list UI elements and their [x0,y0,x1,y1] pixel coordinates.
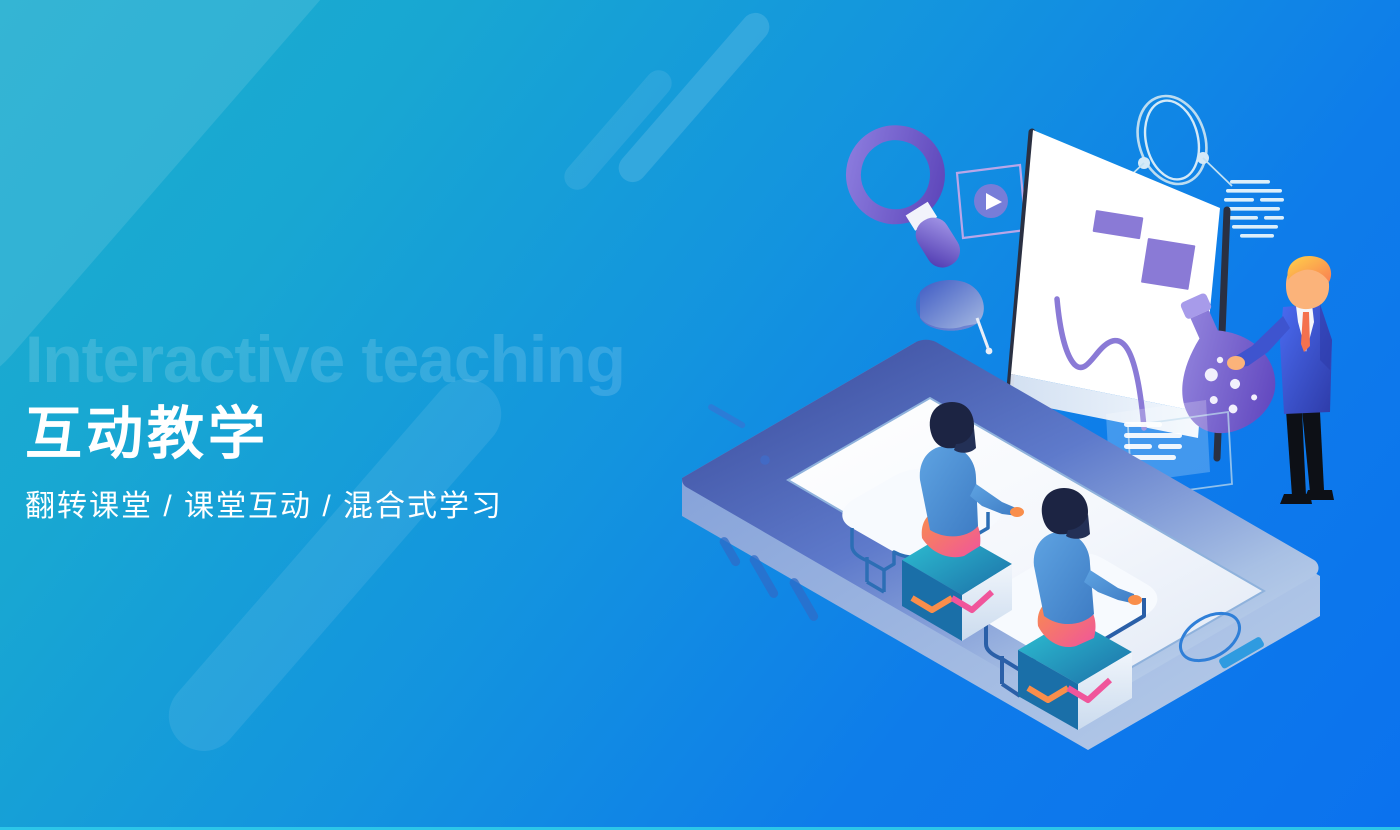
speaker-grill [707,403,746,429]
video-card-icon [957,165,1026,238]
banner-root: Interactive teaching 互动教学 翻转课堂 / 课堂互动 / … [0,0,1400,830]
magnifier-icon [838,117,988,287]
isometric-classroom-illustration [620,60,1400,800]
note-lines-right [1224,180,1284,238]
camera-dot [760,455,770,465]
chart-block-large [1141,238,1195,290]
